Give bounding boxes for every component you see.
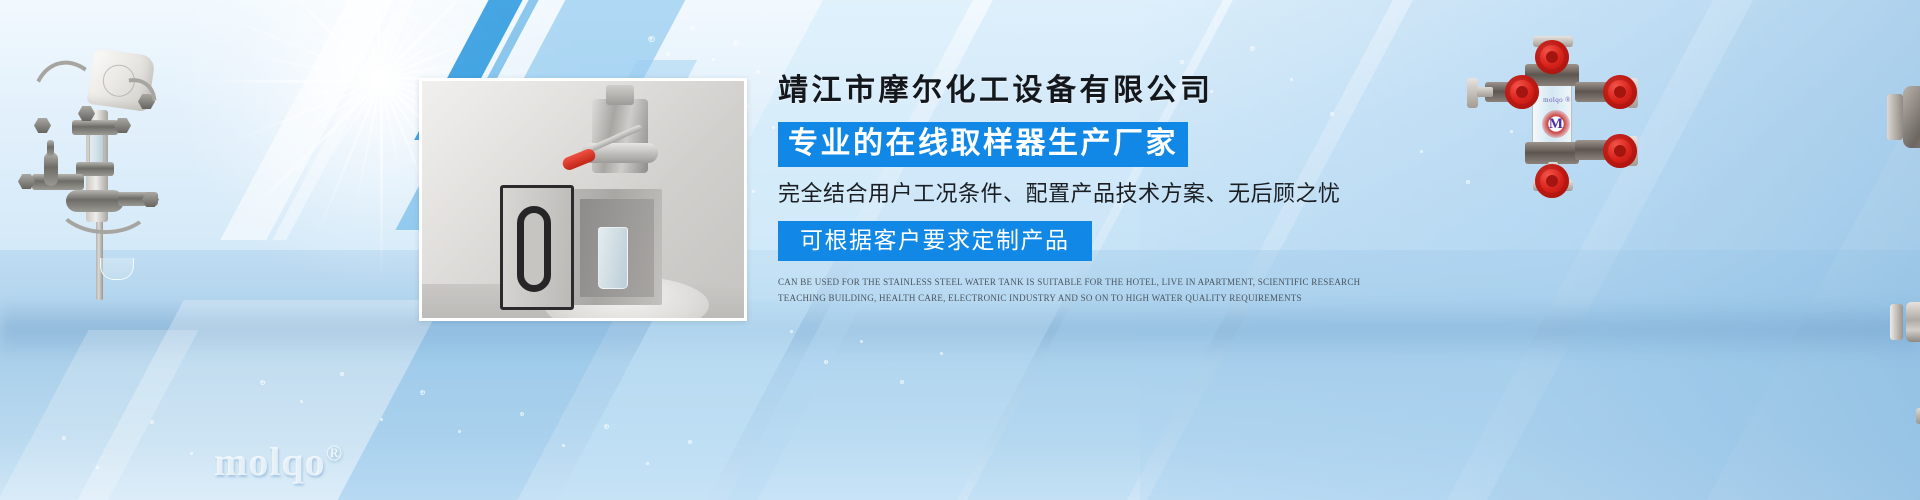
water-droplet [733,40,739,46]
headline-text: 专业的在线取样器生产厂家 [788,127,1178,160]
water-droplet [824,360,828,364]
door-window [517,206,551,292]
banner-text-block: 靖江市摩尔化工设备有限公司 专业的在线取样器生产厂家 完全结合用户工况条件、配置… [778,76,1398,307]
water-droplet [62,436,66,440]
sampler-top-fitting [606,85,634,105]
water-droplet [666,52,670,56]
inline-sampler-glass-body: M [1880,250,1920,450]
online-sampler-cabinet-photo [419,78,747,321]
water-droplet [150,420,154,424]
promotional-banner: molqo ® M M 靖江市摩尔化工设备有限公司 专业的在线取样器生产厂家 完… [0,0,1920,500]
manifold-body-bottom [1525,142,1579,164]
lever-valve-flange-left [1887,94,1903,140]
handwheel-right [1603,75,1637,109]
water-droplet [420,390,425,395]
headline-highlight-bar: 专业的在线取样器生产厂家 [778,122,1188,167]
cta-highlight-bar[interactable]: 可根据客户要求定制产品 [778,221,1092,260]
water-droplet [648,36,655,42]
water-droplet [752,190,755,193]
english-description: Can be used for the stainless steel wate… [778,274,1378,307]
water-droplet [940,352,943,355]
cross-valve-manifold: molqo ® M [1455,30,1655,190]
handwheel-right-lower [1603,134,1637,168]
water-droplet [562,444,565,447]
water-droplet [340,372,344,376]
water-droplet [688,440,692,444]
water-droplet [1420,150,1423,153]
flexible-tube [53,164,155,235]
water-droplet [712,58,715,61]
water-droplet [900,380,904,384]
inline-sampler-base [1916,408,1920,424]
handwheel-bottom [1535,164,1569,198]
water-droplet [520,412,524,416]
sample-bottle [598,227,628,289]
water-droplet [260,380,265,385]
water-droplet [690,26,695,31]
water-droplet [604,424,609,429]
manifold-brand-text: molqo ® [1533,96,1581,104]
valve-stem-left [1477,87,1493,97]
pole-mounted-sampler-assembly [14,32,164,302]
inline-sampler-flange-left [1890,304,1903,340]
subline-text: 完全结合用户工况条件、配置产品技术方案、无后顾之忧 [778,182,1398,206]
watermark-registered-mark: ® [326,441,343,466]
manifold-logo-letter: M [1542,110,1570,138]
water-droplet [646,462,649,465]
handwheel-top [1535,40,1569,74]
sampler-enclosure [570,189,662,305]
water-droplet [96,466,99,469]
water-droplet [1180,60,1184,64]
enclosure-door [500,185,574,310]
watermark-text: molqo [214,439,326,484]
company-title: 靖江市摩尔化工设备有限公司 [778,76,1398,106]
water-droplet [790,330,793,333]
lever-valve-body [1903,86,1920,148]
water-droplet [300,400,303,403]
sample-beaker [100,258,134,280]
water-droplet [1250,46,1255,51]
water-droplet [772,126,775,129]
lever-handle-sampling-valve [1885,28,1920,213]
water-droplet [860,340,863,343]
water-droplet [190,452,193,455]
watermark-logo: molqo® [214,438,343,485]
manifold-logo-badge: M [1542,110,1570,138]
water-droplet [458,430,461,433]
water-droplet [380,418,383,421]
water-droplet [756,70,760,74]
cta-text: 可根据客户要求定制产品 [800,227,1070,253]
inline-sampler-body [1906,302,1920,342]
